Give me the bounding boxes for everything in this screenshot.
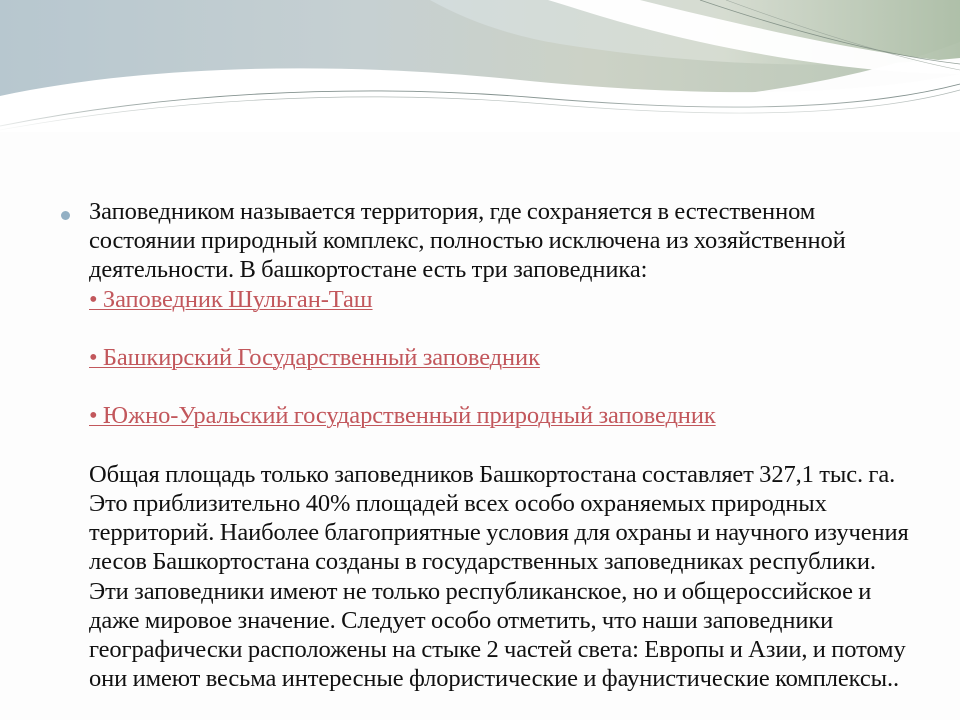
wave-line-3 <box>700 0 960 64</box>
wave-band-green <box>430 0 960 65</box>
wave-white-sweep-bottom <box>0 68 960 132</box>
link-bashkirskiy-gosudarstvennyy-zapovednik[interactable]: • Башкирский Государственный заповедник <box>89 343 920 372</box>
wave-line-4 <box>726 0 960 70</box>
wave-line-1 <box>0 84 960 126</box>
bullet-point-icon <box>61 211 70 220</box>
content-text-block: Заповедником называется территория, где … <box>58 197 920 693</box>
body-paragraph: Заповедником называется территория, где … <box>89 197 920 693</box>
bullet-list-item: Заповедником называется территория, где … <box>58 197 920 693</box>
link-yuzhno-uralskiy-zapovednik[interactable]: • Южно-Уральский государственный природн… <box>89 401 920 430</box>
wave-white-sweep-top <box>548 0 960 74</box>
header-wave-decoration <box>0 0 960 132</box>
wave-line-2 <box>0 90 960 130</box>
slide-canvas: Заповедником называется территория, где … <box>0 0 960 720</box>
link-zapovednik-shulgan-tash[interactable]: • Заповедник Шульган-Таш <box>89 285 920 314</box>
wave-fade-overlay <box>0 96 960 132</box>
wave-band-base <box>0 0 960 124</box>
intro-text: Заповедником называется территория, где … <box>89 198 846 283</box>
wave-graphic <box>0 0 960 132</box>
wave-white-base <box>0 94 960 132</box>
outro-text: Общая площадь только заповедников Башкор… <box>89 461 909 692</box>
